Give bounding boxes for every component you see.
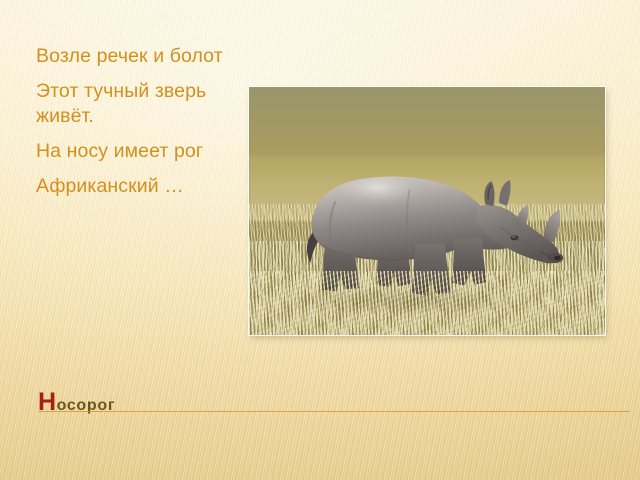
verse-line-3: На носу имеет рог <box>36 139 236 164</box>
verse-line-4: Африканский … <box>36 174 236 199</box>
rhinoceros-photo <box>249 87 605 335</box>
photo-frame <box>249 87 605 335</box>
verse-line-1: Возле речек и болот <box>36 44 236 69</box>
title-underline-rule <box>38 411 630 412</box>
slide-body-text: Возле речек и болот Этот тучный зверь жи… <box>36 44 236 199</box>
presentation-slide: Возле речек и болот Этот тучный зверь жи… <box>0 0 640 480</box>
slide-title-area: Носорог <box>38 383 630 415</box>
foreground-grass <box>249 271 605 335</box>
verse-line-2: Этот тучный зверь живёт. <box>36 79 236 129</box>
